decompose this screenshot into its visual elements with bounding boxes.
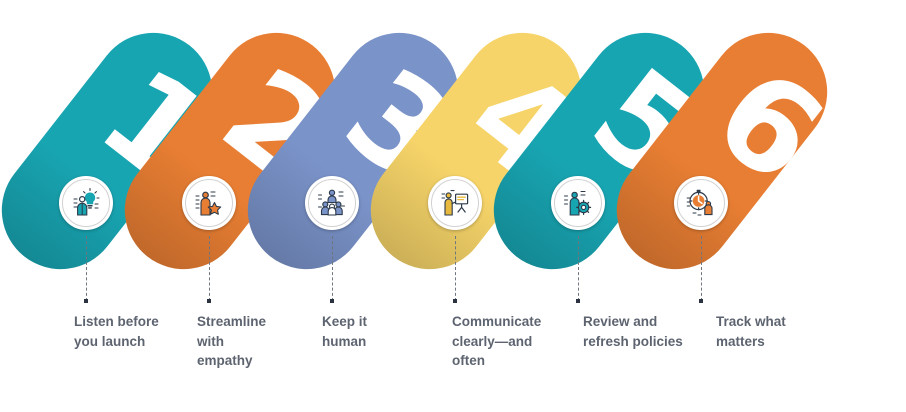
connector-line-4: [455, 236, 456, 301]
presentation-board-icon: [438, 186, 472, 220]
step-badge-1[interactable]: [59, 176, 113, 230]
step-label-5: Review and refresh policies: [583, 312, 709, 351]
connector-line-5: [578, 236, 579, 301]
step-label-3: Keep it human: [322, 312, 426, 351]
connector-endpoint-2: [207, 299, 211, 303]
infographic-root: 1 2 3 4 5 6: [0, 0, 906, 412]
step-label-4: Communicate clearly—and often: [452, 312, 570, 371]
person-gear-icon: [561, 186, 595, 220]
connector-line-1: [86, 236, 87, 301]
step-label-2: Streamline with empathy: [197, 312, 301, 371]
connector-endpoint-1: [84, 299, 88, 303]
step-badge-5[interactable]: [551, 176, 605, 230]
connector-endpoint-3: [330, 299, 334, 303]
person-lightbulb-icon: [69, 186, 103, 220]
step-badge-4[interactable]: [428, 176, 482, 230]
connector-endpoint-4: [453, 299, 457, 303]
connector-endpoint-6: [699, 299, 703, 303]
stopwatch-person-icon: [684, 186, 718, 220]
step-label-1: Listen before you launch: [74, 312, 186, 351]
person-star-icon: [192, 186, 226, 220]
step-badge-6[interactable]: [674, 176, 728, 230]
people-group-icon: [315, 186, 349, 220]
connector-line-6: [701, 236, 702, 301]
connector-line-2: [209, 236, 210, 301]
connector-line-3: [332, 236, 333, 301]
connector-endpoint-5: [576, 299, 580, 303]
step-badge-2[interactable]: [182, 176, 236, 230]
step-label-6: Track what matters: [716, 312, 816, 351]
step-badge-3[interactable]: [305, 176, 359, 230]
